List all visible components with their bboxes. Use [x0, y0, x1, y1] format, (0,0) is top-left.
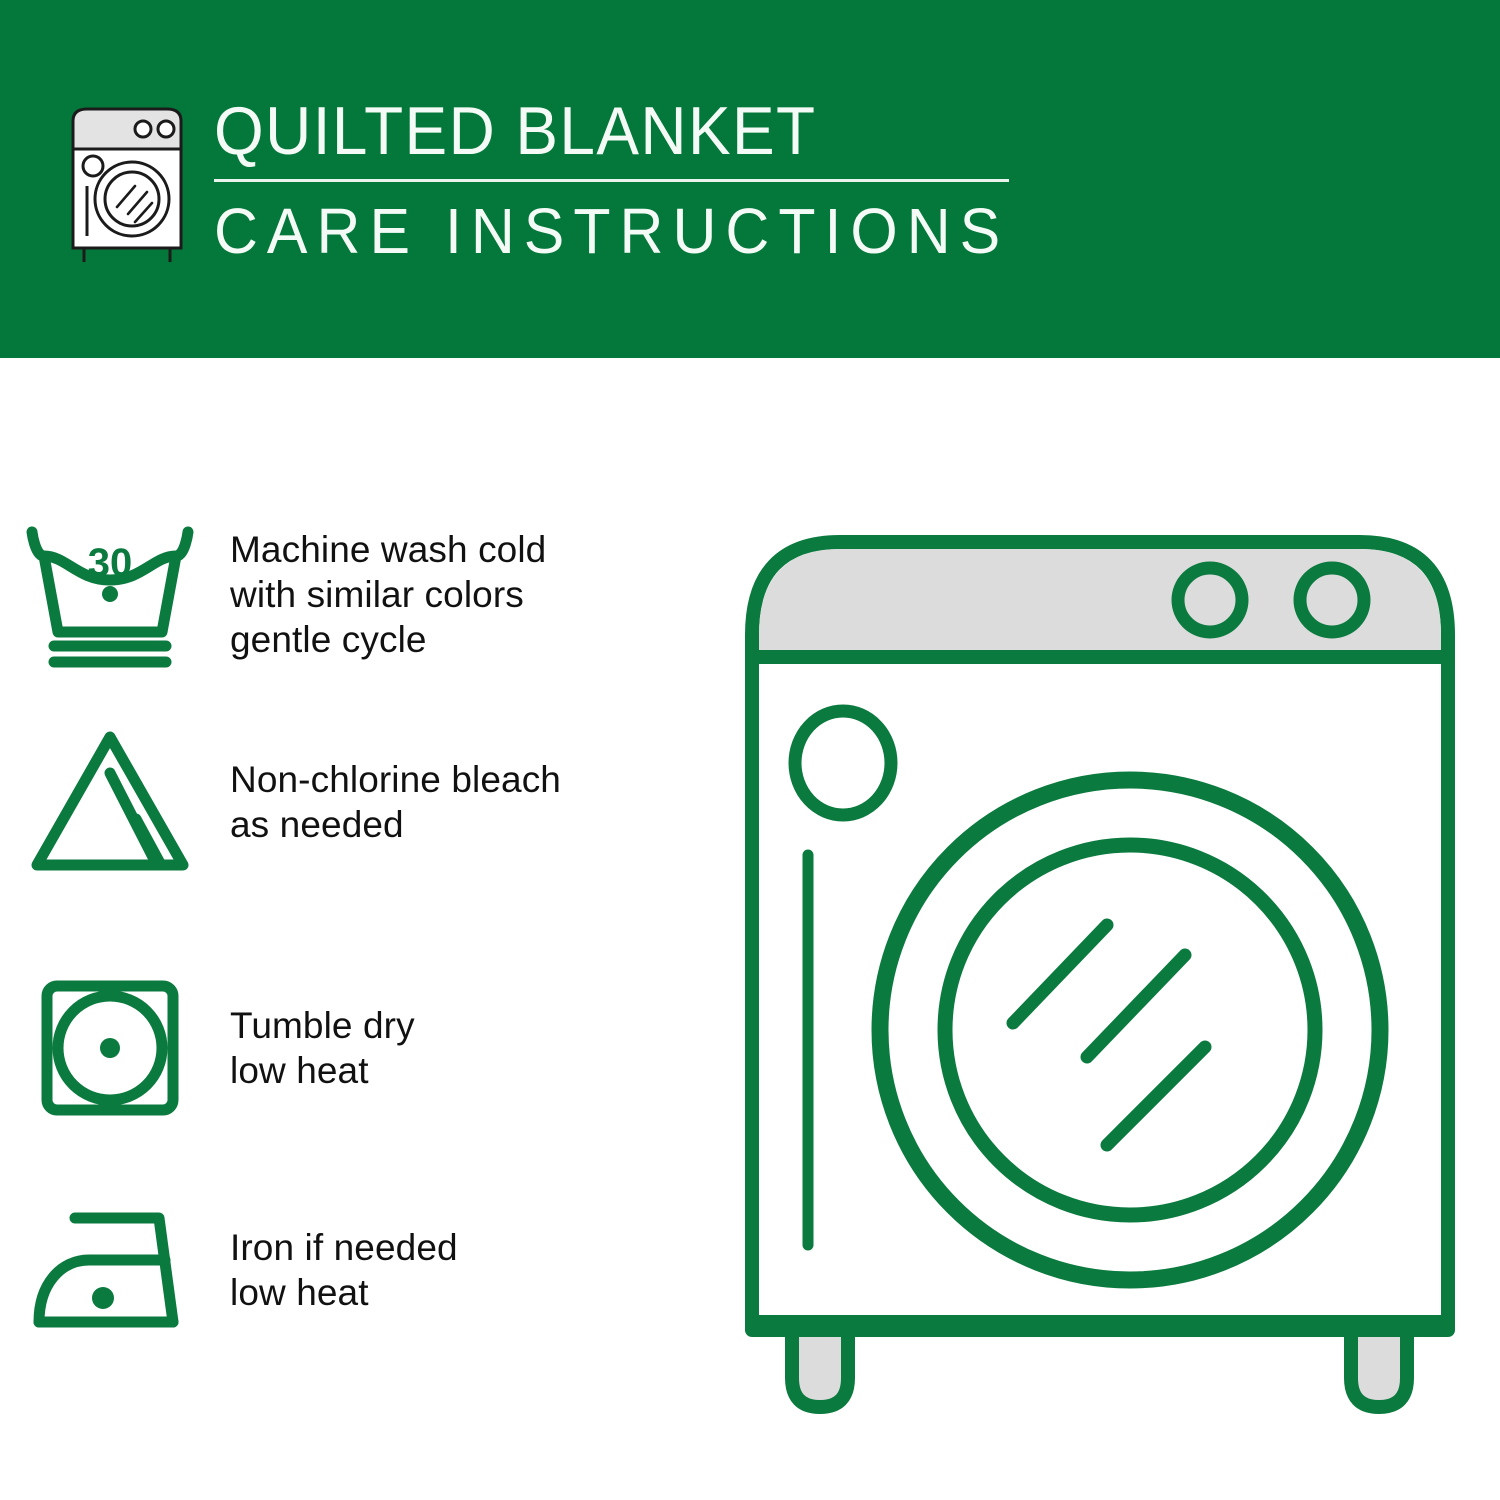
- page-title: QUILTED BLANKET: [214, 96, 985, 166]
- care-label-line: gentle cycle: [230, 617, 730, 662]
- care-row-bleach: Non-chlorine bleach as needed: [0, 714, 730, 890]
- care-label-wash: Machine wash cold with similar colors ge…: [220, 527, 730, 662]
- care-label-line: Iron if needed: [230, 1225, 730, 1270]
- tumble-dry-low-heat-icon: [0, 976, 220, 1120]
- control-knob-right: [1300, 568, 1364, 632]
- care-row-tumble-dry: Tumble dry low heat: [0, 966, 730, 1130]
- care-label-bleach: Non-chlorine bleach as needed: [220, 757, 730, 847]
- iron-low-heat-icon: [0, 1204, 220, 1336]
- door-inner-ring: [945, 845, 1315, 1215]
- care-instructions-list: 30 Machine wash cold with similar colors…: [0, 358, 730, 1500]
- care-label-line: as needed: [230, 802, 730, 847]
- care-row-iron: Iron if needed low heat: [0, 1188, 730, 1352]
- detergent-latch: [795, 711, 891, 815]
- care-label-line: Non-chlorine bleach: [230, 757, 730, 802]
- leg-left: [792, 1330, 848, 1407]
- header-banner: QUILTED BLANKET CARE INSTRUCTIONS: [0, 0, 1500, 358]
- care-label-tumble-dry: Tumble dry low heat: [220, 1003, 730, 1093]
- control-knob-left: [1178, 568, 1242, 632]
- non-chlorine-bleach-triangle-icon: [0, 727, 220, 877]
- care-label-iron: Iron if needed low heat: [220, 1225, 730, 1315]
- front-load-washing-machine-illustration: [735, 485, 1465, 1435]
- washing-machine-icon: [62, 104, 192, 266]
- care-row-wash: 30 Machine wash cold with similar colors…: [0, 506, 730, 682]
- title-divider: [214, 179, 1009, 182]
- care-label-line: Machine wash cold: [230, 527, 730, 572]
- wash-temperature-value: 30: [88, 541, 133, 585]
- leg-right: [1351, 1330, 1407, 1407]
- care-label-line: low heat: [230, 1048, 730, 1093]
- care-label-line: with similar colors: [230, 572, 730, 617]
- header-text-block: QUILTED BLANKET CARE INSTRUCTIONS: [214, 96, 1034, 266]
- care-label-line: low heat: [230, 1270, 730, 1315]
- page-subtitle: CARE INSTRUCTIONS: [214, 196, 993, 266]
- care-instructions-poster: QUILTED BLANKET CARE INSTRUCTIONS: [0, 0, 1500, 1500]
- wash-tub-30-gentle-icon: 30: [0, 518, 220, 670]
- care-label-line: Tumble dry: [230, 1003, 730, 1048]
